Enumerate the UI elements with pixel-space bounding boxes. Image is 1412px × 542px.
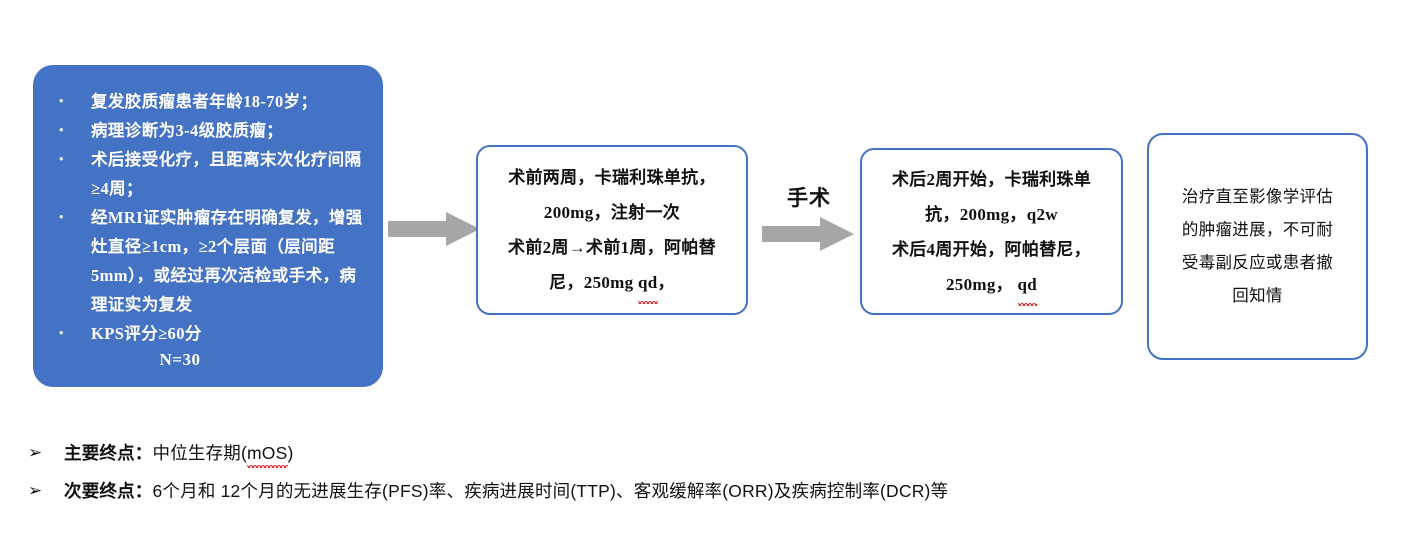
list-item: KPS评分≥60分	[45, 319, 369, 348]
treatment-duration-text: 治疗直至影像学评估 的肿瘤进展，不可耐 受毒副反应或患者撤 回知情	[1149, 181, 1366, 313]
eligibility-criteria-box: 复发胶质瘤患者年龄18-70岁； 病理诊断为3-4级胶质瘤； 术后接受化疗，且距…	[33, 65, 383, 387]
primary-endpoint-row: ➢ 主要终点：中位生存期(mOS)	[26, 434, 1366, 472]
primary-endpoint-text: 中位生存期(	[153, 443, 248, 463]
flow-arrow-right-icon	[388, 212, 480, 246]
duration-line: 的肿瘤进展，不可耐	[1149, 214, 1366, 247]
treatment-line: 术前两周，卡瑞利珠单抗，	[478, 160, 746, 195]
secondary-endpoint-row: ➢ 次要终点：6个月和 12个月的无进展生存(PFS)率、疾病进展时间(TTP)…	[26, 472, 1366, 510]
arrowhead-bullet-icon: ➢	[28, 434, 42, 472]
study-endpoints: ➢ 主要终点：中位生存期(mOS) ➢ 次要终点：6个月和 12个月的无进展生存…	[26, 434, 1366, 510]
arrowhead-bullet-icon: ➢	[28, 472, 42, 510]
treatment-line: 200mg，注射一次	[478, 195, 746, 230]
flow-arrow-right-icon	[762, 217, 854, 251]
list-item: 术后接受化疗，且距离末次化疗间隔≥4周；	[45, 145, 369, 203]
duration-line: 治疗直至影像学评估	[1149, 181, 1366, 214]
treatment-line: 术后2周开始，卡瑞利珠单	[862, 162, 1121, 197]
adjuvant-treatment-box: 术后2周开始，卡瑞利珠单 抗，200mg，q2w 术后4周开始，阿帕替尼， 25…	[860, 148, 1123, 315]
misspelled-token: qd	[1018, 267, 1038, 302]
primary-endpoint-text-tail: )	[288, 443, 294, 463]
adjuvant-treatment-text: 术后2周开始，卡瑞利珠单 抗，200mg，q2w 术后4周开始，阿帕替尼， 25…	[862, 162, 1121, 302]
duration-line: 受毒副反应或患者撤	[1149, 247, 1366, 280]
treatment-line: 术前2周→术前1周，阿帕替	[478, 230, 746, 265]
treatment-line: 抗，200mg，q2w	[862, 197, 1121, 232]
treatment-line: 250mg， qd	[862, 267, 1121, 302]
secondary-endpoint-text: 6个月和 12个月的无进展生存(PFS)率、疾病进展时间(TTP)、客观缓解率(…	[153, 481, 949, 501]
neoadjuvant-treatment-text: 术前两周，卡瑞利珠单抗， 200mg，注射一次 术前2周→术前1周，阿帕替 尼，…	[478, 160, 746, 300]
treatment-duration-box: 治疗直至影像学评估 的肿瘤进展，不可耐 受毒副反应或患者撤 回知情	[1147, 133, 1368, 360]
enrollment-count: N=30	[45, 350, 369, 370]
list-item: 复发胶质瘤患者年龄18-70岁；	[45, 87, 369, 116]
primary-endpoint-label: 主要终点：	[64, 443, 153, 463]
list-item: 经MRI证实肿瘤存在明确复发，增强灶直径≥1cm，≥2个层面（层间距5mm），或…	[45, 203, 369, 319]
misspelled-token: qd	[638, 265, 658, 300]
secondary-endpoint-label: 次要终点：	[64, 481, 153, 501]
misspelled-token: mOS	[247, 434, 287, 472]
list-item: 病理诊断为3-4级胶质瘤；	[45, 116, 369, 145]
duration-line: 回知情	[1149, 280, 1366, 313]
neoadjuvant-treatment-box: 术前两周，卡瑞利珠单抗， 200mg，注射一次 术前2周→术前1周，阿帕替 尼，…	[476, 145, 748, 315]
treatment-line: 术后4周开始，阿帕替尼，	[862, 232, 1121, 267]
treatment-line: 尼，250mg qd，	[478, 265, 746, 300]
eligibility-criteria-list: 复发胶质瘤患者年龄18-70岁； 病理诊断为3-4级胶质瘤； 术后接受化疗，且距…	[45, 87, 369, 348]
surgery-step-label: 手术	[769, 182, 849, 212]
